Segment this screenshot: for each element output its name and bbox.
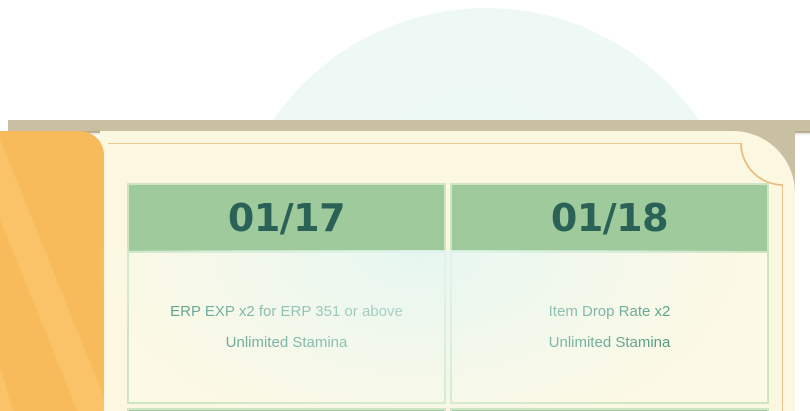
orange-stripe-decoration	[0, 131, 104, 411]
event-schedule-table: 01/17 ERP EXP x2 for ERP 351 or above Un…	[127, 183, 769, 404]
day-date-label: 01/17	[228, 199, 345, 237]
day-header-cell[interactable]: 01/17	[127, 183, 446, 251]
perk-text: Unlimited Stamina	[549, 334, 671, 353]
day-perks-cell: Item Drop Rate x2 Unlimited Stamina	[450, 251, 769, 404]
screenshot-stage: 01/17 ERP EXP x2 for ERP 351 or above Un…	[0, 0, 810, 411]
orange-side-panel-decoration	[0, 131, 104, 411]
schedule-day-column: 01/18 Item Drop Rate x2 Unlimited Stamin…	[450, 183, 769, 404]
perk-text: Unlimited Stamina	[226, 334, 348, 353]
perk-text: ERP EXP x2 for ERP 351 or above	[170, 303, 403, 322]
day-header-cell[interactable]: 01/18	[450, 183, 769, 251]
schedule-day-column: 01/17 ERP EXP x2 for ERP 351 or above Un…	[127, 183, 446, 404]
day-date-label: 01/18	[551, 199, 668, 237]
day-perks-cell: ERP EXP x2 for ERP 351 or above Unlimite…	[127, 251, 446, 404]
perk-text: Item Drop Rate x2	[549, 303, 671, 322]
